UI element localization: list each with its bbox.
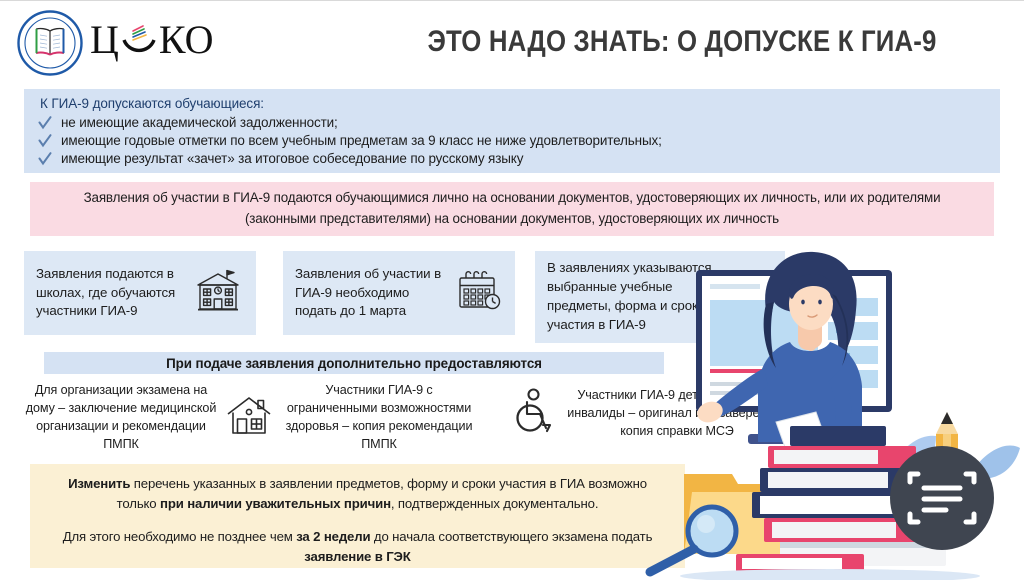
card-text: Заявления подаются в школах, где обучают… bbox=[36, 265, 188, 322]
scan-badge bbox=[890, 446, 994, 550]
open-book-seal-icon bbox=[16, 9, 84, 77]
requirement-home-exam: Для организации экзамена на дому – заклю… bbox=[24, 381, 274, 454]
check-icon bbox=[38, 134, 52, 148]
requirement-text: Участники ГИА-9 с ограниченными возможно… bbox=[281, 381, 477, 454]
logo-wordmark: Ц КО bbox=[90, 20, 213, 66]
admission-lead: К ГИА-9 допускаются обучающиеся: bbox=[40, 96, 986, 111]
school-building-icon bbox=[192, 268, 244, 319]
change-notice-line2: Для этого необходимо не позднее чем за 2… bbox=[48, 527, 667, 568]
card-text: Заявления об участии в ГИА-9 необходимо … bbox=[295, 265, 451, 322]
admission-list: не имеющие академической задолженности; … bbox=[38, 115, 986, 166]
application-notice-panel: Заявления об участии в ГИА-9 подаются об… bbox=[30, 182, 994, 236]
change-notice-panel: Изменить перечень указанных в заявлении … bbox=[30, 464, 685, 568]
page-title: ЭТО НАДО ЗНАТЬ: О ДОПУСКЕ К ГИА-9 bbox=[398, 25, 966, 59]
logo-arc-icon bbox=[119, 22, 159, 62]
list-item-label: имеющие годовые отметки по всем учебным … bbox=[61, 133, 662, 148]
change-notice-line1: Изменить перечень указанных в заявлении … bbox=[48, 474, 667, 515]
list-item-label: имеющие результат «зачет» за итоговое со… bbox=[61, 151, 523, 166]
wheelchair-icon bbox=[509, 387, 557, 440]
check-icon bbox=[38, 116, 52, 130]
woman-at-monitor-with-books-illustration bbox=[640, 236, 1024, 580]
card-deadline: Заявления об участии в ГИА-9 необходимо … bbox=[283, 251, 515, 335]
change-notice-bold-2: при наличии уважительных причин bbox=[160, 496, 391, 511]
logo: Ц КО bbox=[16, 9, 213, 77]
check-icon bbox=[38, 152, 52, 166]
change-notice-bold-3: за 2 недели bbox=[296, 529, 370, 544]
card-schools: Заявления подаются в школах, где обучают… bbox=[24, 251, 256, 335]
calendar-clock-icon bbox=[455, 269, 503, 318]
magnifier bbox=[650, 507, 736, 572]
change-notice-text-4: до начала соответствующего экзамена пода… bbox=[370, 529, 652, 544]
infographic-page: Ц КО ЭТО НАДО ЗНАТЬ: О ДОПУСКЕ К ГИА-9 К… bbox=[0, 0, 1024, 579]
list-item: имеющие результат «зачет» за итоговое со… bbox=[38, 151, 986, 166]
list-item: не имеющие академической задолженности; bbox=[38, 115, 986, 130]
sub-banner: При подаче заявления дополнительно предо… bbox=[44, 352, 664, 374]
header: Ц КО ЭТО НАДО ЗНАТЬ: О ДОПУСКЕ К ГИА-9 bbox=[0, 1, 1024, 85]
admission-panel: К ГИА-9 допускаются обучающиеся: не имею… bbox=[24, 89, 1000, 173]
requirement-ovz: Участники ГИА-9 с ограниченными возможно… bbox=[281, 381, 535, 454]
application-notice-text: Заявления об участии в ГИА-9 подаются об… bbox=[56, 188, 968, 230]
list-item-label: не имеющие академической задолженности; bbox=[61, 115, 338, 130]
list-item: имеющие годовые отметки по всем учебным … bbox=[38, 133, 986, 148]
change-notice-bold-1: Изменить bbox=[68, 476, 130, 491]
requirement-text: Для организации экзамена на дому – заклю… bbox=[24, 381, 218, 454]
change-notice-text-2: , подтвержденных документально. bbox=[391, 496, 598, 511]
house-icon bbox=[224, 391, 274, 444]
change-notice-text-3: Для этого необходимо не позднее чем bbox=[63, 529, 297, 544]
change-notice-bold-4: заявление в ГЭК bbox=[304, 549, 410, 564]
